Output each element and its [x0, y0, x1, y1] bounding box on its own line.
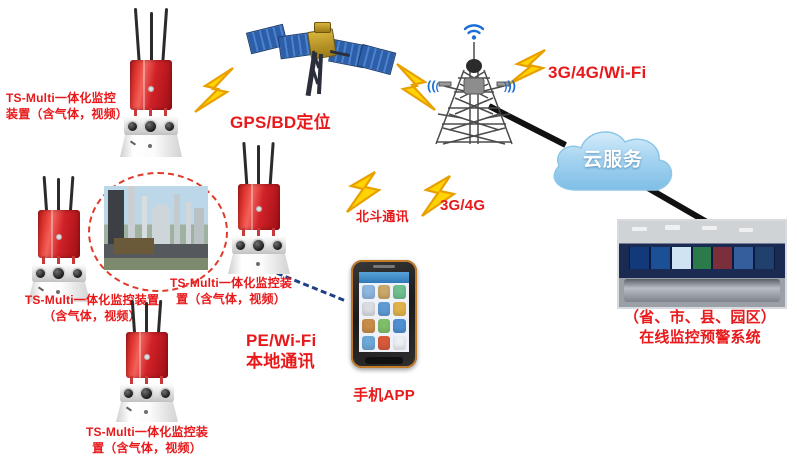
device-1-label: TS-Multi一体化监控 装置（含气体，视频） — [6, 90, 128, 122]
rugged-handheld-device[interactable] — [351, 260, 417, 368]
three-four-g-label: 3G/4G — [440, 196, 485, 216]
app-icon[interactable] — [393, 285, 406, 299]
petrochemical-plant-photo — [104, 186, 208, 270]
app-icon[interactable] — [362, 285, 375, 299]
signal-wave-left-icon: ((( — [427, 78, 439, 93]
ts-multi-device-2 — [22, 176, 98, 301]
cell-tower-icon: ((( ))) — [424, 22, 524, 152]
pe-wifi-label: PE/Wi-Fi 本地通讯 — [246, 330, 316, 373]
app-icon[interactable] — [362, 302, 375, 316]
app-icon[interactable] — [378, 319, 391, 333]
control-room-photo — [617, 219, 787, 309]
app-icon[interactable] — [378, 285, 391, 299]
app-icon[interactable] — [393, 319, 406, 333]
phone-app-label: 手机APP — [334, 386, 434, 406]
control-center-label: （省、市、县、园区） 在线监控预警系统 — [600, 308, 797, 347]
app-icon[interactable] — [362, 336, 375, 350]
cloud-service-icon: 云服务 — [543, 118, 683, 198]
three-four-g-wifi-label: 3G/4G/Wi-Fi — [548, 62, 646, 85]
ts-multi-device-3 — [222, 142, 298, 272]
app-icon[interactable] — [378, 336, 391, 350]
wifi-signal-icon — [462, 22, 486, 40]
app-icon[interactable] — [393, 336, 406, 350]
app-icon[interactable] — [393, 302, 406, 316]
bolt-icon-gps-left — [189, 66, 245, 116]
satellite-icon — [246, 8, 394, 100]
gps-bd-label: GPS/BD定位 — [230, 112, 331, 135]
diagram-canvas: ((( ))) 云服务 — [0, 0, 797, 464]
app-icon[interactable] — [378, 302, 391, 316]
ts-multi-device-4 — [110, 300, 186, 420]
cloud-label: 云服务 — [543, 145, 683, 172]
ts-multi-device-1 — [112, 8, 188, 158]
beidou-label: 北斗通讯 — [356, 208, 409, 226]
signal-wave-right-icon: ))) — [504, 78, 516, 93]
app-icon[interactable] — [362, 319, 375, 333]
device-4-label: TS-Multi一体化监控装 置（含气体，视频） — [62, 424, 232, 456]
